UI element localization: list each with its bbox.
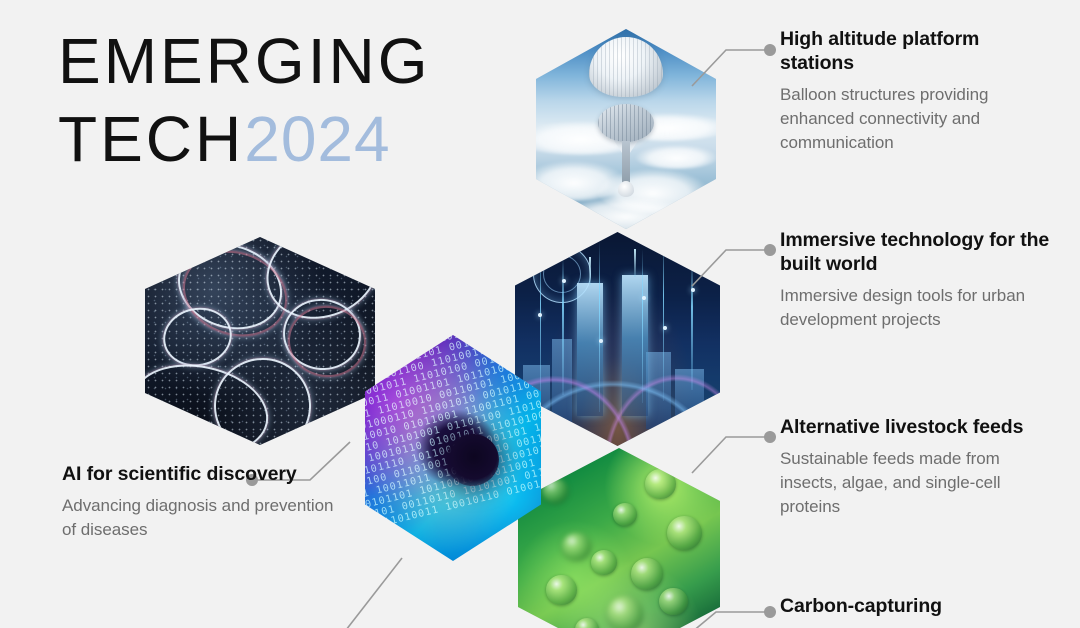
balloon-tether xyxy=(622,141,630,185)
callout-body: Balloon structures providing enhanced co… xyxy=(780,83,1052,155)
title-year: 2024 xyxy=(244,103,390,175)
cloud-shape xyxy=(558,197,695,229)
title-line-tech-year: TECH2024 xyxy=(58,100,430,178)
hex-high-altitude-balloon[interactable] xyxy=(536,29,716,229)
balloon-pod xyxy=(598,104,654,142)
hex-binary-code-eye[interactable]: 01001101 10110100 01101001 11010010 0011… xyxy=(365,335,541,561)
callout-body: Sustainable feeds made from insects, alg… xyxy=(780,447,1052,519)
callout-immersive-technology-for-the-built-world[interactable]: Immersive technology for the built world… xyxy=(780,228,1052,332)
callout-carbon-capturing[interactable]: Carbon-capturing xyxy=(780,594,1052,626)
callout-body: Immersive design tools for urban develop… xyxy=(780,284,1052,332)
callout-heading: Carbon-capturing xyxy=(780,594,1052,618)
hex-algae-macro[interactable] xyxy=(518,448,720,628)
connector-line-6 xyxy=(330,556,410,628)
data-arc-overlay xyxy=(515,305,720,446)
infographic-canvas: EMERGING TECH2024 xyxy=(0,0,1080,628)
title-word-tech: TECH xyxy=(58,103,244,175)
callout-high-altitude-platform-stations[interactable]: High altitude platform stations Balloon … xyxy=(780,27,1052,155)
title-line-emerging: EMERGING xyxy=(58,22,430,100)
page-title: EMERGING TECH2024 xyxy=(58,22,430,178)
callout-heading: AI for scientific discovery xyxy=(62,462,352,486)
hex-ai-neural-network[interactable] xyxy=(145,237,375,445)
connector-line-3 xyxy=(690,415,790,475)
callout-heading: High altitude platform stations xyxy=(780,27,1052,75)
callout-heading: Alternative livestock feeds xyxy=(780,415,1052,439)
hex-smart-city-skyline[interactable] xyxy=(515,232,720,446)
callout-ai-for-scientific-discovery[interactable]: AI for scientific discovery Advancing di… xyxy=(62,462,352,542)
callout-body: Advancing diagnosis and prevention of di… xyxy=(62,494,352,542)
callout-heading: Immersive technology for the built world xyxy=(780,228,1052,276)
cloud-shape xyxy=(635,145,716,169)
callout-alternative-livestock-feeds[interactable]: Alternative livestock feeds Sustainable … xyxy=(780,415,1052,519)
